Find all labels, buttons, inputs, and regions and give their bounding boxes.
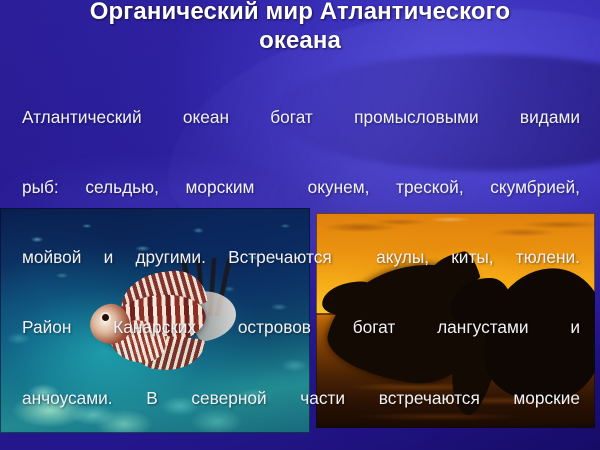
body-line-4: Район Канарских островов богат лангустам…: [22, 316, 580, 339]
slide-title-line-1: Органический мир Атлантического: [90, 0, 510, 25]
presentation-slide: Органический мир Атлантического океана А…: [0, 0, 600, 450]
body-line-3: мойвой и другими. Встречаются акулы, кит…: [22, 246, 580, 269]
slide-body-text: Атлантический океан богат промысловыми в…: [22, 59, 580, 450]
slide-title-line-2: океана: [259, 27, 341, 54]
body-line-2: рыб: сельдью, морским окунем, треской, с…: [22, 176, 580, 199]
body-line-5: анчоусами. В северной части встречаются …: [22, 387, 580, 410]
slide-title: Органический мир Атлантического океана: [0, 0, 600, 55]
body-line-1: Атлантический океан богат промысловыми в…: [22, 106, 580, 129]
